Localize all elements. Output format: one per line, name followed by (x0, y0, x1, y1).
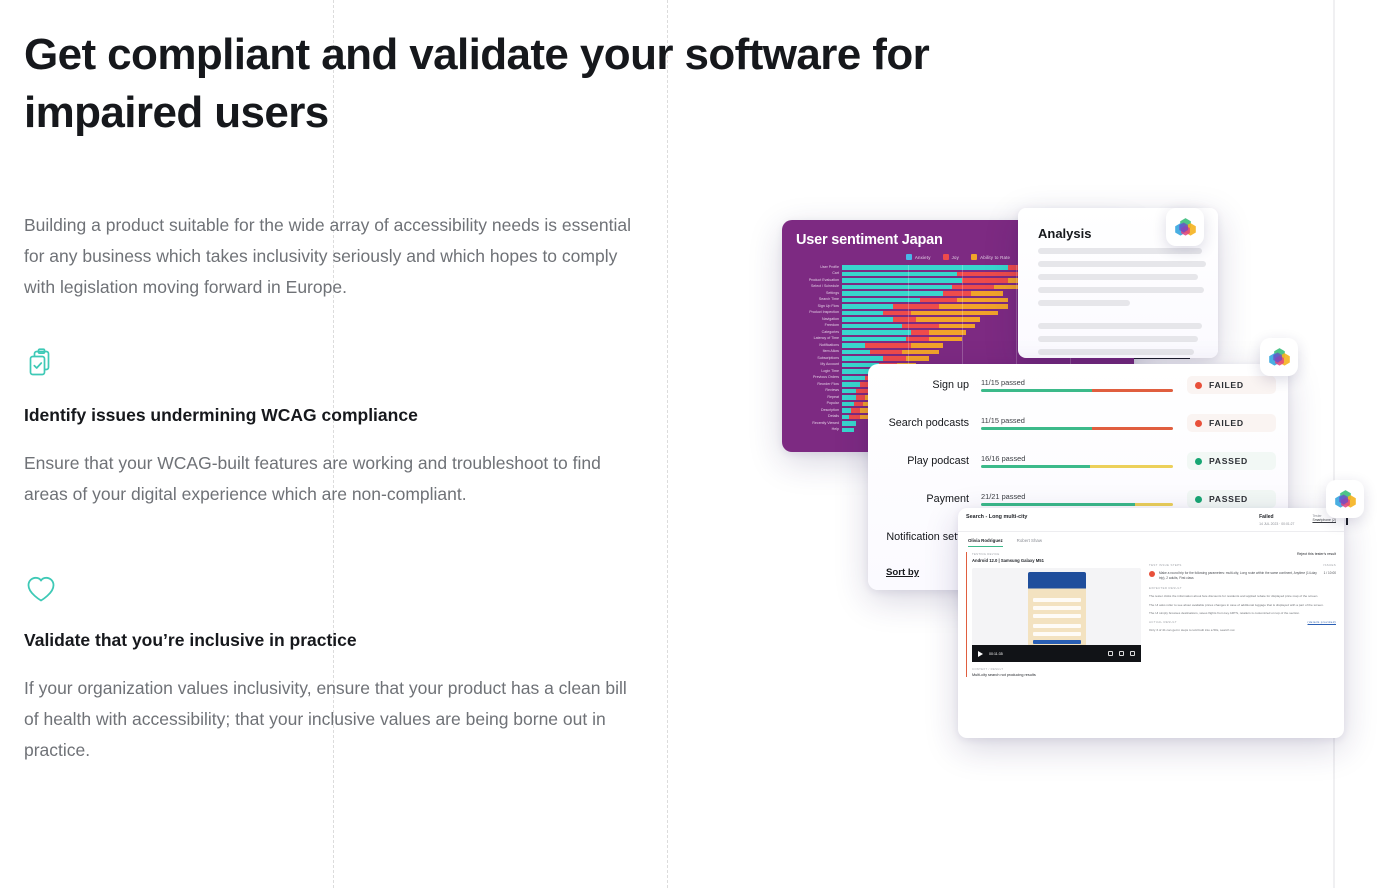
chart-bar-label: Help (792, 427, 842, 432)
chart-bar-label: Search Time (792, 297, 842, 302)
status-dot-icon (1195, 458, 1202, 465)
test-progress: 16/16 passed (981, 454, 1173, 469)
analysis-skeleton-group (1018, 248, 1218, 355)
actual-result-link[interactable]: (details provided) (1308, 620, 1336, 624)
chart-bar-segment (842, 330, 911, 335)
chart-bar-label: Categories (792, 330, 842, 335)
test-progress: 11/15 passed (981, 378, 1173, 393)
chart-bar-segment (851, 408, 860, 413)
chart-bar-segment (842, 272, 957, 277)
status-badge: PASSED (1187, 490, 1276, 508)
product-logo-icon (1333, 487, 1358, 512)
expected-paragraph: The UI asks roller to see about availabl… (1149, 603, 1336, 607)
actual-result-row: ACTUAL RESULT (details provided) (1149, 620, 1336, 624)
chart-bar-segment (842, 415, 849, 420)
chart-bar-segment (865, 343, 911, 348)
test-name: Search podcasts (880, 417, 981, 429)
chart-bar-segment (971, 291, 1003, 296)
chart-bar-segment (842, 324, 902, 329)
table-row[interactable]: Play podcast16/16 passedPASSED (868, 444, 1288, 478)
actual-result-text: Only 3 of 41 can get in steps to told bu… (1149, 628, 1336, 632)
status-dot-icon (1195, 382, 1202, 389)
session-tabs: Olivia Rodriguez Robert Shaw (958, 532, 1344, 547)
owner-value[interactable]: Smartphone (2) (1312, 518, 1336, 522)
legend-swatch (971, 254, 977, 260)
video-controls[interactable]: 00:11:35 (972, 645, 1141, 662)
test-name: Sign up (880, 379, 981, 391)
table-row[interactable]: Search podcasts11/15 passedFAILED (868, 406, 1288, 440)
chart-bar-label: Latency of Time (792, 336, 842, 341)
play-icon[interactable] (978, 651, 983, 657)
issue-marker-icon (1149, 571, 1155, 577)
chart-bar-segment (911, 311, 998, 316)
legend-item: Joy (943, 254, 959, 260)
page-root: Get compliant and validate your software… (0, 0, 1389, 888)
product-logo-icon (1173, 215, 1198, 240)
chart-bar-segment (939, 304, 1008, 309)
feature-body: Ensure that your WCAG-built features are… (24, 448, 646, 510)
chart-bar-segment (957, 272, 1021, 277)
status-badge: FAILED (1187, 414, 1276, 432)
chart-bar-label: Reorder Flow (792, 382, 842, 387)
legend-item: Ability to Rate (971, 254, 1010, 260)
session-issue-column: Reject this tester's result TEST ISSUE S… (1149, 552, 1336, 677)
intro-paragraph: Building a product suitable for the wide… (24, 210, 644, 303)
chart-bar-segment (842, 421, 856, 426)
status-badge: Failed (1259, 514, 1294, 520)
chart-bar-segment (842, 356, 883, 361)
session-video-player[interactable]: 00:11:35 (972, 568, 1141, 662)
chart-bar-segment (842, 395, 856, 400)
chart-bar-segment (906, 356, 929, 361)
test-name: Play podcast (880, 455, 981, 467)
chart-bar-segment (870, 350, 902, 355)
chart-bar-segment (952, 285, 993, 290)
chart-bar-label: Settings (792, 291, 842, 296)
sort-by-button[interactable]: Sort by (886, 567, 919, 578)
chart-bar-segment (906, 337, 929, 342)
issue-section-label: TEST ISSUE STEPS (1149, 563, 1182, 567)
skeleton-line (1038, 261, 1206, 267)
chart-bar-segment (957, 298, 1008, 303)
chart-bar-segment (883, 356, 906, 361)
chart-bar-segment (842, 337, 906, 342)
status-label: PASSED (1209, 494, 1248, 504)
session-header: Search - Long multi-city Failed 14 JUL 2… (958, 508, 1344, 532)
heart-icon (24, 572, 58, 606)
chart-bar-segment (962, 278, 1008, 283)
fullscreen-icon[interactable] (1130, 651, 1135, 656)
status-badge: PASSED (1187, 452, 1276, 470)
skeleton-line (1038, 349, 1194, 355)
actual-result-label: ACTUAL RESULT (1149, 620, 1177, 624)
issue-section-header: TEST ISSUE STEPS ISSUES (1149, 563, 1336, 567)
feature-title: Validate that you’re inclusive in practi… (24, 630, 664, 651)
chart-bar-label: Details (792, 414, 842, 419)
session-title: Search - Long multi-city (966, 514, 1027, 520)
product-logo-icon (1267, 345, 1292, 370)
status-timestamp: 14 JUL 2023 · 00:01:27 (1259, 522, 1294, 526)
chart-bar-segment (920, 298, 957, 303)
content-column: Get compliant and validate your software… (24, 0, 664, 766)
expected-paragraph: The UI simply browses destinations, save… (1149, 611, 1336, 615)
test-progress-bar (981, 427, 1173, 430)
test-pass-count: 16/16 passed (981, 454, 1173, 463)
chart-bar-segment (842, 376, 865, 381)
chart-bar-segment (842, 304, 893, 309)
test-name: Payment (880, 493, 981, 505)
chart-bar-segment (842, 278, 962, 283)
feature-block-inclusive: Validate that you’re inclusive in practi… (24, 572, 664, 766)
chart-bar-label: Select / Schedule (792, 284, 842, 289)
session-device-column: TESTING DEVICE Android 12.0 | Samsung Ga… (966, 552, 1141, 677)
device-kicker: TESTING DEVICE (972, 552, 1141, 556)
test-pass-count: 21/21 passed (981, 492, 1173, 501)
skeleton-line (1038, 287, 1204, 293)
table-row[interactable]: Sign up11/15 passedFAILED (868, 368, 1288, 402)
chart-bar-label: Popular (792, 401, 842, 406)
skeleton-line (1038, 248, 1202, 254)
skeleton-line (1038, 323, 1202, 329)
chart-bar-segment (842, 265, 1008, 270)
chart-bar-label: Description (792, 408, 842, 413)
chart-bar-label: Recently Viewed (792, 421, 842, 426)
chart-bar-segment (842, 402, 854, 407)
product-logo-badge-top[interactable] (1166, 208, 1204, 246)
session-detail-card: Search - Long multi-city Failed 14 JUL 2… (958, 508, 1344, 738)
chart-bar-label: Freedom (792, 323, 842, 328)
status-dot-icon (1195, 420, 1202, 427)
issue-item: Make a round trip for the following para… (1149, 571, 1336, 580)
legend-label: Joy (952, 255, 959, 260)
chart-bar-label: Navigation (792, 317, 842, 322)
clipboard-check-icon (24, 347, 58, 381)
phone-screenshot (1028, 572, 1086, 646)
chart-bar-segment (842, 343, 865, 348)
page-title: Get compliant and validate your software… (24, 26, 984, 142)
chart-bar-label: My Account (792, 362, 842, 367)
product-logo-badge-middle[interactable] (1260, 338, 1298, 376)
chart-bar-label: Item Allow (792, 349, 842, 354)
chart-bar-segment (842, 291, 943, 296)
chart-bar-segment (842, 311, 883, 316)
chart-bar-label: Previous Orders (792, 375, 842, 380)
device-name: Android 12.0 | Samsung Galaxy M51 (972, 558, 1141, 563)
legend-swatch (906, 254, 912, 260)
video-timestamp: 00:11:35 (989, 652, 1003, 656)
status-label: FAILED (1209, 380, 1244, 390)
session-body: TESTING DEVICE Android 12.0 | Samsung Ga… (958, 547, 1344, 677)
expected-paragraph: The tester clicks the information about … (1149, 594, 1336, 598)
issue-score: 1 / 10:00 (1324, 571, 1336, 580)
chart-bar-segment (856, 395, 865, 400)
context-text: Multi-city search not producing results (972, 673, 1141, 677)
session-status-block: Failed 14 JUL 2023 · 00:01:27 (1259, 514, 1294, 526)
expected-result-label: EXPECTED RESULT (1149, 586, 1336, 590)
feature-block-compliance: Identify issues undermining WCAG complia… (24, 347, 664, 510)
reject-result-link[interactable]: Reject this tester's result (1149, 552, 1336, 556)
session-header-meta: Failed 14 JUL 2023 · 00:01:27 Tester Sma… (1259, 514, 1336, 526)
skeleton-line (1018, 306, 1218, 316)
test-progress-bar (981, 465, 1173, 468)
chart-bar-label: Product Inspection (792, 310, 842, 315)
context-kicker: CONTEXT / RESULT (972, 667, 1141, 671)
test-rows-group: Sign up11/15 passedFAILEDSearch podcasts… (868, 368, 1288, 516)
captions-icon[interactable] (1119, 651, 1124, 656)
chart-bar-segment (842, 285, 952, 290)
tab-robert-shaw[interactable]: Robert Shaw (1017, 538, 1042, 547)
issue-score-label: ISSUES (1323, 563, 1336, 567)
test-pass-count: 11/15 passed (981, 416, 1173, 425)
legend-item: Anxiety (906, 254, 931, 260)
chart-bar-segment (883, 311, 911, 316)
chart-bar-segment (929, 337, 961, 342)
tab-olivia-rodriguez[interactable]: Olivia Rodriguez (968, 538, 1003, 547)
chart-bar-segment (893, 304, 939, 309)
chart-bar-segment (842, 317, 893, 322)
chart-bar-segment (939, 324, 976, 329)
volume-icon[interactable] (1108, 651, 1113, 656)
legend-swatch (943, 254, 949, 260)
chart-bar-label: Product Evaluation (792, 278, 842, 283)
test-pass-count: 11/15 passed (981, 378, 1173, 387)
test-progress: 11/15 passed (981, 416, 1173, 431)
chart-bar-segment (842, 428, 854, 433)
status-badge: FAILED (1187, 376, 1276, 394)
chart-bar-segment (854, 402, 863, 407)
test-progress-bar (981, 503, 1173, 506)
chart-bar-segment (929, 330, 966, 335)
chart-bar-segment (842, 382, 860, 387)
feature-title: Identify issues undermining WCAG complia… (24, 405, 664, 426)
status-label: PASSED (1209, 456, 1248, 466)
test-progress: 21/21 passed (981, 492, 1173, 507)
skeleton-line (1038, 336, 1198, 342)
status-label: FAILED (1209, 418, 1244, 428)
chart-bar-segment (911, 343, 943, 348)
test-progress-bar (981, 389, 1173, 392)
chart-bar-label: Sign Up Flow (792, 304, 842, 309)
chart-bar-label: Repeat (792, 395, 842, 400)
sentiment-title: User sentiment Japan (796, 232, 943, 248)
chart-bar-segment (842, 389, 856, 394)
chart-bar-segment (916, 317, 980, 322)
chart-bar-label: Notifications (792, 343, 842, 348)
chart-bar-segment (842, 350, 870, 355)
chart-bar-label: Login Time (792, 369, 842, 374)
legend-label: Ability to Rate (980, 255, 1010, 260)
legend-label: Anxiety (915, 255, 931, 260)
feature-body: If your organization values inclusivity,… (24, 673, 646, 766)
product-illustration: User sentiment Japan Anxiety Joy Ability… (760, 180, 1380, 780)
chart-bar-segment (911, 330, 929, 335)
status-dot-icon (1195, 496, 1202, 503)
product-logo-badge-bottom[interactable] (1326, 480, 1364, 518)
issue-text: Make a round trip for the following para… (1159, 571, 1320, 580)
chart-bar-segment (849, 415, 861, 420)
chart-bar-label: Subscriptions (792, 356, 842, 361)
chart-bar-label: Reviews (792, 388, 842, 393)
chart-bar-label: Cart (792, 271, 842, 276)
skeleton-line (1038, 274, 1198, 280)
chart-bar-segment (943, 291, 971, 296)
chart-bar-label: User Profile (792, 265, 842, 270)
chart-bar-segment (893, 317, 916, 322)
chart-bar-segment (842, 408, 851, 413)
